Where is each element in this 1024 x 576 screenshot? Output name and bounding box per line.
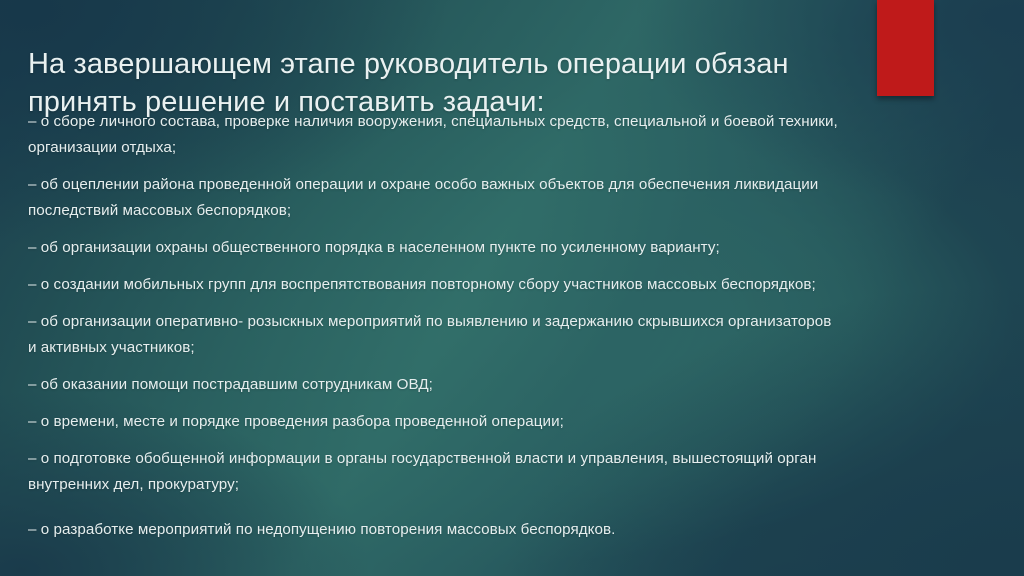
bullet-item: – о подготовке обобщенной информации в о… [28, 446, 843, 498]
bullet-item: – о сборе личного состава, проверке нали… [28, 109, 843, 161]
bullet-item: – об организации охраны общественного по… [28, 235, 843, 261]
bullet-item: – о времени, месте и порядке проведения … [28, 409, 843, 435]
bullet-item: – о разработке мероприятий по недопущени… [28, 509, 843, 551]
bullet-item: – об оказании помощи пострадавшим сотруд… [28, 372, 843, 398]
bullet-list: – о сборе личного состава, проверке нали… [28, 109, 843, 551]
accent-bar-red [877, 0, 934, 96]
bullet-item: – о создании мобильных групп для воспреп… [28, 272, 843, 298]
bullet-item: – об оцеплении района проведенной операц… [28, 172, 843, 224]
slide-canvas: На завершающем этапе руководитель операц… [0, 0, 1024, 576]
bullet-item: – об организации оперативно- розыскных м… [28, 309, 843, 361]
